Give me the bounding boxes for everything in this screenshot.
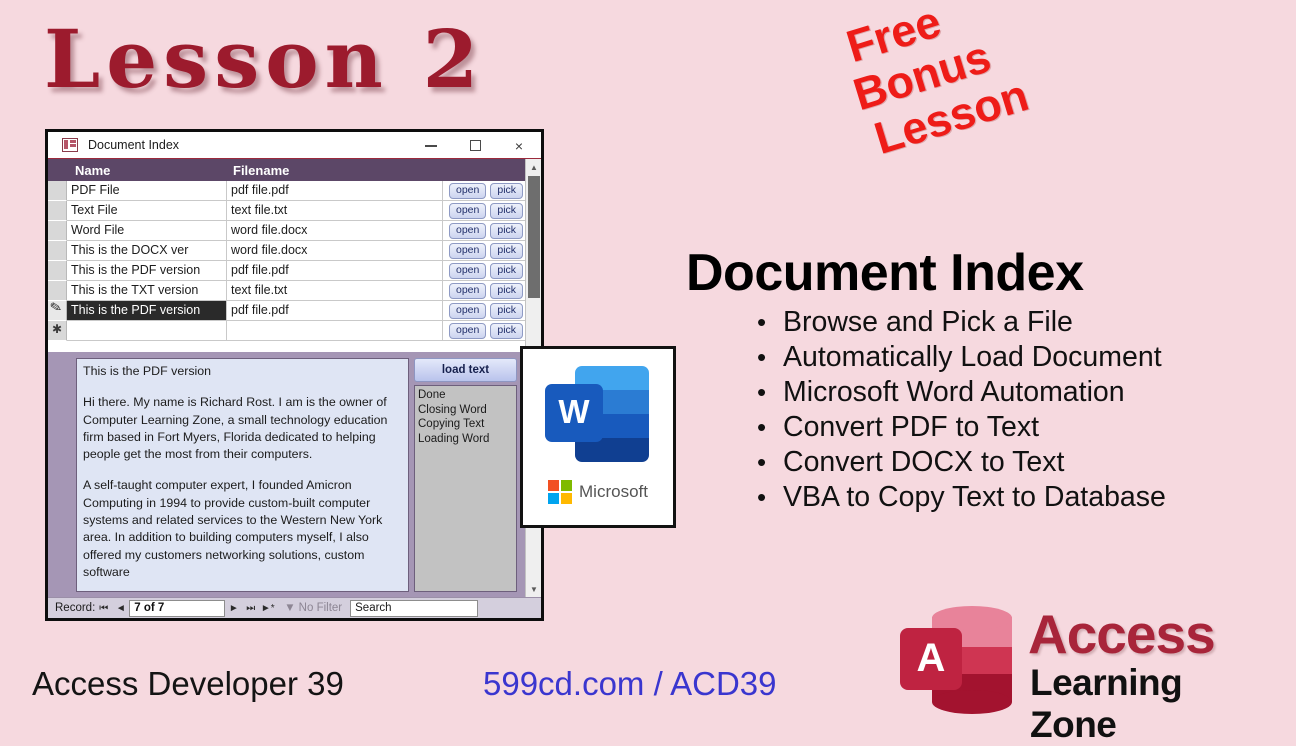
grid-header-selector <box>48 159 67 181</box>
logo-word-access: Access <box>1028 602 1215 666</box>
microsoft-brand-row: Microsoft <box>548 480 648 504</box>
window-title: Document Index <box>88 138 179 152</box>
filter-icon: ▼ <box>284 602 295 614</box>
open-button[interactable]: open <box>449 283 486 299</box>
pick-button[interactable]: pick <box>490 203 523 219</box>
list-item: Microsoft Word Automation <box>757 375 1166 410</box>
minimize-icon <box>425 145 437 147</box>
list-item: Convert DOCX to Text <box>757 445 1166 480</box>
new-record-selector[interactable] <box>48 321 67 341</box>
microsoft-logo-icon <box>548 480 572 504</box>
page-title: Lesson 2 <box>44 12 484 106</box>
record-label: Record: <box>55 602 95 614</box>
footer-url-link[interactable]: 599cd.com / ACD39 <box>483 665 777 703</box>
row-selector[interactable] <box>48 201 67 221</box>
open-button[interactable]: open <box>449 263 486 279</box>
feature-bullet-list: Browse and Pick a File Automatically Loa… <box>757 305 1166 515</box>
cell-filename[interactable]: text file.txt <box>227 201 443 221</box>
access-learning-zone-logo: A Access Learning Zone <box>900 604 1270 714</box>
table-row[interactable]: This is the TXT version text file.txt op… <box>48 281 541 301</box>
datasheet-grid: Name Filename PDF File pdf file.pdf open… <box>48 159 541 352</box>
access-form-window: Document Index × Name Filename PDF File … <box>45 129 544 621</box>
filter-label: No Filter <box>299 602 342 614</box>
row-selector[interactable] <box>48 241 67 261</box>
grid-header-row: Name Filename <box>48 159 541 181</box>
open-button[interactable]: open <box>449 223 486 239</box>
maximize-icon <box>470 140 481 151</box>
log-line: Copying Text <box>418 417 513 432</box>
status-log-listbox[interactable]: Done Closing Word Copying Text Loading W… <box>414 385 517 592</box>
minimize-button[interactable] <box>409 132 453 159</box>
memo-textbox[interactable]: This is the PDF version Hi there. My nam… <box>76 358 409 592</box>
microsoft-word-card: W Microsoft <box>520 346 676 528</box>
first-record-button[interactable]: ⏮ <box>95 603 112 614</box>
next-record-button[interactable]: ► <box>225 603 242 614</box>
open-button[interactable]: open <box>449 203 486 219</box>
cell-name[interactable]: This is the DOCX ver <box>67 241 227 261</box>
memo-clipped-line: development, and personalized training s… <box>77 588 408 592</box>
footer-course-label: Access Developer 39 <box>32 665 344 703</box>
table-row[interactable]: Word File word file.docx open pick <box>48 221 541 241</box>
open-button[interactable]: open <box>449 183 486 199</box>
log-line: Done <box>418 388 513 403</box>
cell-name[interactable]: PDF File <box>67 181 227 201</box>
cell-name-selected[interactable]: This is the PDF version <box>67 301 227 321</box>
row-selector-editing[interactable] <box>48 301 67 321</box>
memo-title: This is the PDF version <box>83 363 400 380</box>
table-row[interactable]: This is the DOCX ver word file.docx open… <box>48 241 541 261</box>
maximize-button[interactable] <box>453 132 497 159</box>
row-selector[interactable] <box>48 181 67 201</box>
memo-paragraph-2: A self-taught computer expert, I founded… <box>83 477 400 581</box>
word-icon: W <box>543 362 653 466</box>
list-item: Automatically Load Document <box>757 340 1166 375</box>
pick-button[interactable]: pick <box>490 183 523 199</box>
cell-filename[interactable]: pdf file.pdf <box>227 301 443 321</box>
table-row[interactable]: This is the PDF version pdf file.pdf ope… <box>48 261 541 281</box>
cell-filename[interactable]: pdf file.pdf <box>227 261 443 281</box>
pick-button[interactable]: pick <box>490 323 523 339</box>
form-detail-section: This is the PDF version Hi there. My nam… <box>48 352 541 597</box>
column-header-name[interactable]: Name <box>67 163 227 178</box>
previous-record-button[interactable]: ◄ <box>112 603 129 614</box>
open-button[interactable]: open <box>449 243 486 259</box>
memo-paragraph-1: Hi there. My name is Richard Rost. I am … <box>83 394 400 463</box>
window-controls: × <box>409 132 541 159</box>
access-a-letter: A <box>900 628 962 690</box>
row-selector[interactable] <box>48 261 67 281</box>
word-w-letter: W <box>545 384 603 442</box>
close-button[interactable]: × <box>497 132 541 159</box>
column-header-filename[interactable]: Filename <box>227 163 443 178</box>
list-item: Convert PDF to Text <box>757 410 1166 445</box>
scroll-down-icon[interactable]: ▼ <box>526 581 542 597</box>
cell-name[interactable]: Text File <box>67 201 227 221</box>
cell-filename[interactable]: word file.docx <box>227 241 443 261</box>
table-row-current[interactable]: This is the PDF version pdf file.pdf ope… <box>48 301 541 321</box>
search-input[interactable]: Search <box>350 600 478 617</box>
table-row-new[interactable]: open pick <box>48 321 541 341</box>
pick-button[interactable]: pick <box>490 283 523 299</box>
filter-status[interactable]: ▼ No Filter <box>284 602 342 614</box>
pick-button[interactable]: pick <box>490 243 523 259</box>
form-icon <box>62 138 78 152</box>
pick-button[interactable]: pick <box>490 263 523 279</box>
open-button[interactable]: open <box>449 323 486 339</box>
cell-name[interactable]: Word File <box>67 221 227 241</box>
pick-button[interactable]: pick <box>490 303 523 319</box>
last-record-button[interactable]: ⏭ <box>242 603 259 614</box>
cell-name[interactable] <box>67 321 227 341</box>
window-titlebar: Document Index × <box>48 132 541 159</box>
record-position-input[interactable]: 7 of 7 <box>129 600 225 617</box>
cell-filename[interactable]: pdf file.pdf <box>227 181 443 201</box>
load-text-button[interactable]: load text <box>414 358 517 382</box>
pick-button[interactable]: pick <box>490 223 523 239</box>
cell-filename[interactable]: text file.txt <box>227 281 443 301</box>
table-row[interactable]: PDF File pdf file.pdf open pick <box>48 181 541 201</box>
open-button[interactable]: open <box>449 303 486 319</box>
table-row[interactable]: Text File text file.txt open pick <box>48 201 541 221</box>
log-line: Loading Word <box>418 432 513 447</box>
row-selector[interactable] <box>48 221 67 241</box>
cell-filename[interactable]: word file.docx <box>227 221 443 241</box>
microsoft-brand-label: Microsoft <box>579 482 648 502</box>
list-item: VBA to Copy Text to Database <box>757 480 1166 515</box>
free-bonus-lesson-badge: Free Bonus Lesson <box>789 0 1059 204</box>
list-item: Browse and Pick a File <box>757 305 1166 340</box>
cell-name[interactable]: This is the PDF version <box>67 261 227 281</box>
record-navigator: Record: ⏮ ◄ 7 of 7 ► ⏭ ►* ▼ No Filter Se… <box>48 597 541 618</box>
close-icon: × <box>515 138 523 154</box>
logo-word-learning-zone: Learning Zone <box>1030 662 1270 746</box>
scroll-up-icon[interactable]: ▲ <box>526 159 542 175</box>
right-panel-heading: Document Index <box>686 243 1084 303</box>
new-record-button[interactable]: ►* <box>259 603 276 614</box>
access-database-icon: A <box>900 606 1015 710</box>
cell-filename[interactable] <box>227 321 443 341</box>
scrollbar-thumb[interactable] <box>528 176 540 298</box>
cell-name[interactable]: This is the TXT version <box>67 281 227 301</box>
log-line: Closing Word <box>418 403 513 418</box>
